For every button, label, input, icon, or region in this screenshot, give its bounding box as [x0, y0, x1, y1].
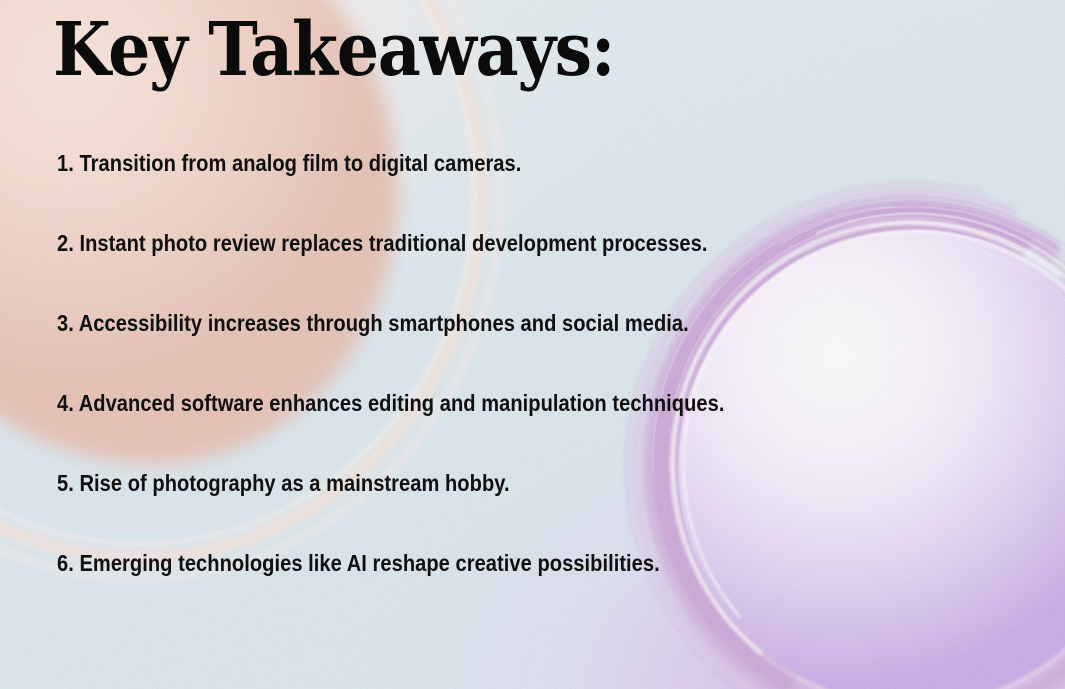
takeaway-text: 3. Accessibility increases through smart…	[57, 312, 689, 336]
list-item: 3. Accessibility increases through smart…	[57, 312, 957, 392]
list-item: 6. Emerging technologies like AI reshape…	[57, 552, 957, 632]
page-title: Key Takeaways:	[53, 13, 614, 87]
takeaway-text: 1. Transition from analog film to digita…	[57, 152, 521, 176]
takeaway-text: 4. Advanced software enhances editing an…	[57, 392, 725, 416]
list-item: 1. Transition from analog film to digita…	[57, 152, 957, 232]
takeaway-list: 1. Transition from analog film to digita…	[57, 152, 957, 632]
list-item: 4. Advanced software enhances editing an…	[57, 392, 957, 472]
takeaway-text: 2. Instant photo review replaces traditi…	[57, 232, 707, 256]
takeaway-text: 5. Rise of photography as a mainstream h…	[57, 472, 510, 496]
slide-content: Key Takeaways: 1. Transition from analog…	[0, 0, 1065, 689]
list-item: 5. Rise of photography as a mainstream h…	[57, 472, 957, 552]
list-item: 2. Instant photo review replaces traditi…	[57, 232, 957, 312]
takeaway-text: 6. Emerging technologies like AI reshape…	[57, 552, 660, 576]
slide-canvas: Key Takeaways: 1. Transition from analog…	[0, 0, 1065, 689]
